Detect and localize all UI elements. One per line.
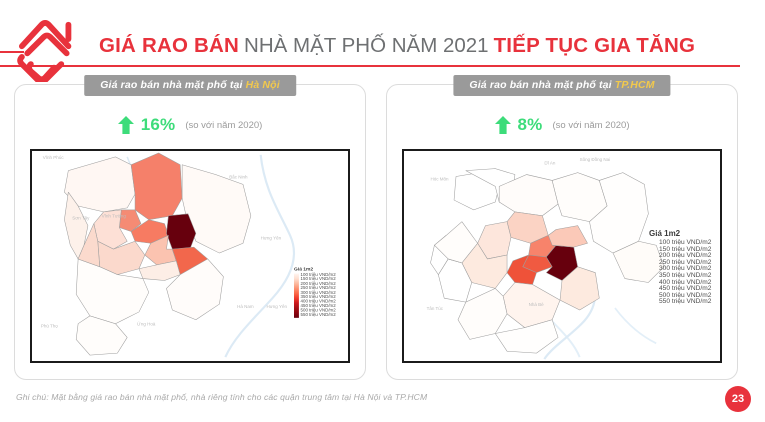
svg-text:Vĩnh Phúc: Vĩnh Phúc <box>43 155 65 160</box>
map-hanoi[interactable]: Vĩnh Phúc Sơn Tây Vĩnh Tường Bắc Ninh Hư… <box>30 149 350 363</box>
panel-hanoi-comparison: (so với năm 2020) <box>185 120 262 131</box>
up-arrow-icon <box>495 116 511 134</box>
panel-hanoi: Giá rao bán nhà mặt phố tại Hà Nội 16% (… <box>14 84 366 380</box>
title-segment-gray: NHÀ MẶT PHỐ NĂM 2021 <box>244 34 489 57</box>
svg-text:Vĩnh Tường: Vĩnh Tường <box>102 214 127 219</box>
page-title: GIÁ RAO BÁNNHÀ MẶT PHỐ NĂM 2021TIẾP TỤC … <box>99 34 695 58</box>
slide-root: GIÁ RAO BÁNNHÀ MẶT PHỐ NĂM 2021TIẾP TỤC … <box>0 0 765 422</box>
panel-hcm-title-city: TP.HCM <box>615 79 655 91</box>
svg-text:Bắc Ninh: Bắc Ninh <box>229 173 248 179</box>
legend-hanoi: Giá 1m2 100 triệu VND/m2 150 triệu VND/m… <box>294 267 336 318</box>
panel-hanoi-stat: 16% (so với năm 2020) <box>15 115 365 135</box>
svg-text:Sông Đồng Nai: Sông Đồng Nai <box>580 157 611 162</box>
panel-hcm: Giá rao bán nhà mặt phố tại TP.HCM 8% (s… <box>386 84 738 380</box>
panel-hcm-percent: 8% <box>518 115 543 135</box>
legend-hcm: Giá 1m2 100 triệu VND/m2 150 triệu VND/m… <box>649 229 711 306</box>
panel-hanoi-percent: 16% <box>141 115 176 135</box>
legend-tick: 550 triệu VND/m2 <box>659 299 711 306</box>
header-divider-rule <box>0 65 740 67</box>
svg-text:Phú Thọ: Phú Thọ <box>41 324 58 329</box>
svg-text:Hưng Yên: Hưng Yên <box>267 304 288 309</box>
footnote: Ghi chú: Mặt bằng giá rao bán nhà mặt ph… <box>16 392 427 402</box>
svg-text:Ứng Hoà: Ứng Hoà <box>137 321 156 327</box>
panel-hcm-stat: 8% (so với năm 2020) <box>387 115 737 135</box>
svg-text:Sơn Tây: Sơn Tây <box>72 216 90 221</box>
panel-hcm-title-pill: Giá rao bán nhà mặt phố tại TP.HCM <box>453 75 670 96</box>
legend-hcm-ticks: 100 triệu VND/m2 150 triệu VND/m2 200 tr… <box>657 240 711 306</box>
panel-hanoi-title-city: Hà Nội <box>246 79 280 91</box>
panel-hanoi-title-prefix: Giá rao bán nhà mặt phố tại <box>100 79 245 91</box>
slide-header: GIÁ RAO BÁNNHÀ MẶT PHỐ NĂM 2021TIẾP TỤC … <box>0 8 765 80</box>
bottom-bar <box>0 417 765 422</box>
svg-text:Tân Túc: Tân Túc <box>427 306 444 311</box>
legend-hanoi-title: Giá 1m2 <box>294 267 336 272</box>
panel-hcm-title-prefix: Giá rao bán nhà mặt phố tại <box>469 79 614 91</box>
batdongsan-logo <box>14 14 96 82</box>
svg-text:Nhà Bè: Nhà Bè <box>529 302 545 307</box>
panel-hanoi-title-pill: Giá rao bán nhà mặt phố tại Hà Nội <box>84 75 296 96</box>
title-segment-red-2: TIẾP TỤC GIA TĂNG <box>494 34 696 57</box>
legend-hanoi-ticks: 100 triệu VND/m2 150 triệu VND/m2 200 tr… <box>299 274 336 318</box>
legend-hcm-title: Giá 1m2 <box>649 229 711 238</box>
svg-text:Hưng Yên: Hưng Yên <box>261 235 282 240</box>
legend-tick: 550 triệu VND/m2 <box>301 313 336 317</box>
svg-text:Dĩ An: Dĩ An <box>544 161 556 166</box>
title-segment-red-1: GIÁ RAO BÁN <box>99 34 239 57</box>
map-hcm[interactable]: Hóc Môn Dĩ An Sông Đồng Nai Tân Túc Nhà … <box>402 149 722 363</box>
svg-text:Hóc Môn: Hóc Môn <box>431 176 450 181</box>
page-number-badge: 23 <box>725 386 751 412</box>
panel-hcm-comparison: (so với năm 2020) <box>553 120 630 131</box>
svg-text:Hà Nam: Hà Nam <box>237 304 254 309</box>
up-arrow-icon <box>118 116 134 134</box>
